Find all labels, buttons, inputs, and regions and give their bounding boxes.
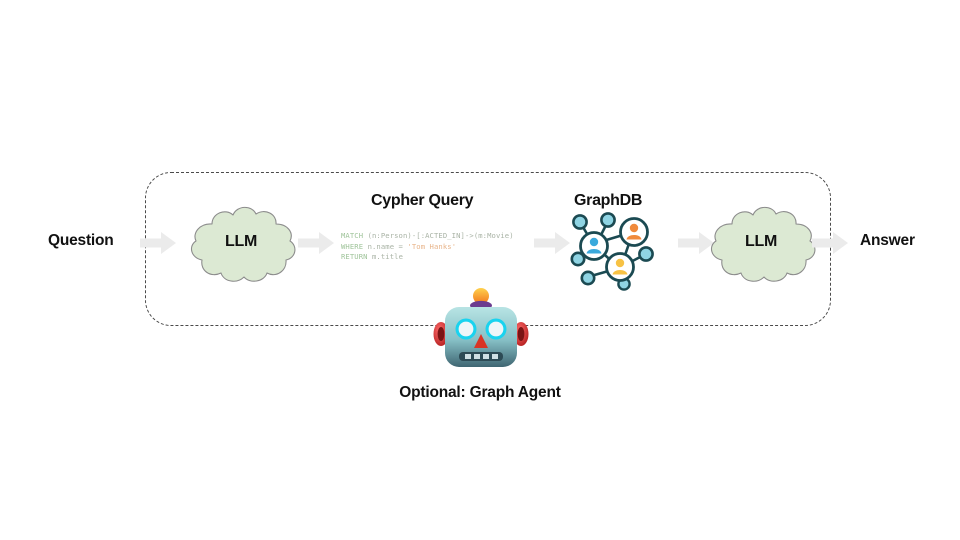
arrow-cypher-query-to-graphdb	[534, 232, 570, 254]
arrow-question-to-llm	[140, 232, 176, 254]
question-label: Question	[48, 232, 114, 250]
cypher-line1-body: (n:Person)-[:ACTED_IN]->(m:Movie)	[363, 231, 514, 240]
graph-network-icon	[567, 211, 659, 293]
llm-cloud-2: LLM	[702, 202, 820, 286]
answer-label: Answer	[860, 232, 915, 250]
cypher-line3-keyword: RETURN	[341, 252, 368, 261]
cypher-query-heading: Cypher Query	[371, 192, 473, 210]
arrow-llm-to-answer	[812, 232, 848, 254]
cypher-code-block: MATCH (n:Person)-[:ACTED_IN]->(m:Movie) …	[341, 231, 514, 263]
cypher-line1-keyword: MATCH	[341, 231, 363, 240]
arrow-llm-to-cypher-query	[298, 232, 334, 254]
robot-icon	[432, 287, 530, 369]
llm-cloud-1: LLM	[182, 202, 300, 286]
graphdb-heading: GraphDB	[574, 192, 642, 210]
cypher-line3-body: m.title	[368, 252, 403, 261]
cypher-line2-string: 'Tom Hanks'	[407, 242, 456, 251]
cypher-line2-keyword: WHERE	[341, 242, 363, 251]
cypher-line2-body: n.name =	[363, 242, 407, 251]
graph-agent-label: Optional: Graph Agent	[0, 384, 960, 402]
